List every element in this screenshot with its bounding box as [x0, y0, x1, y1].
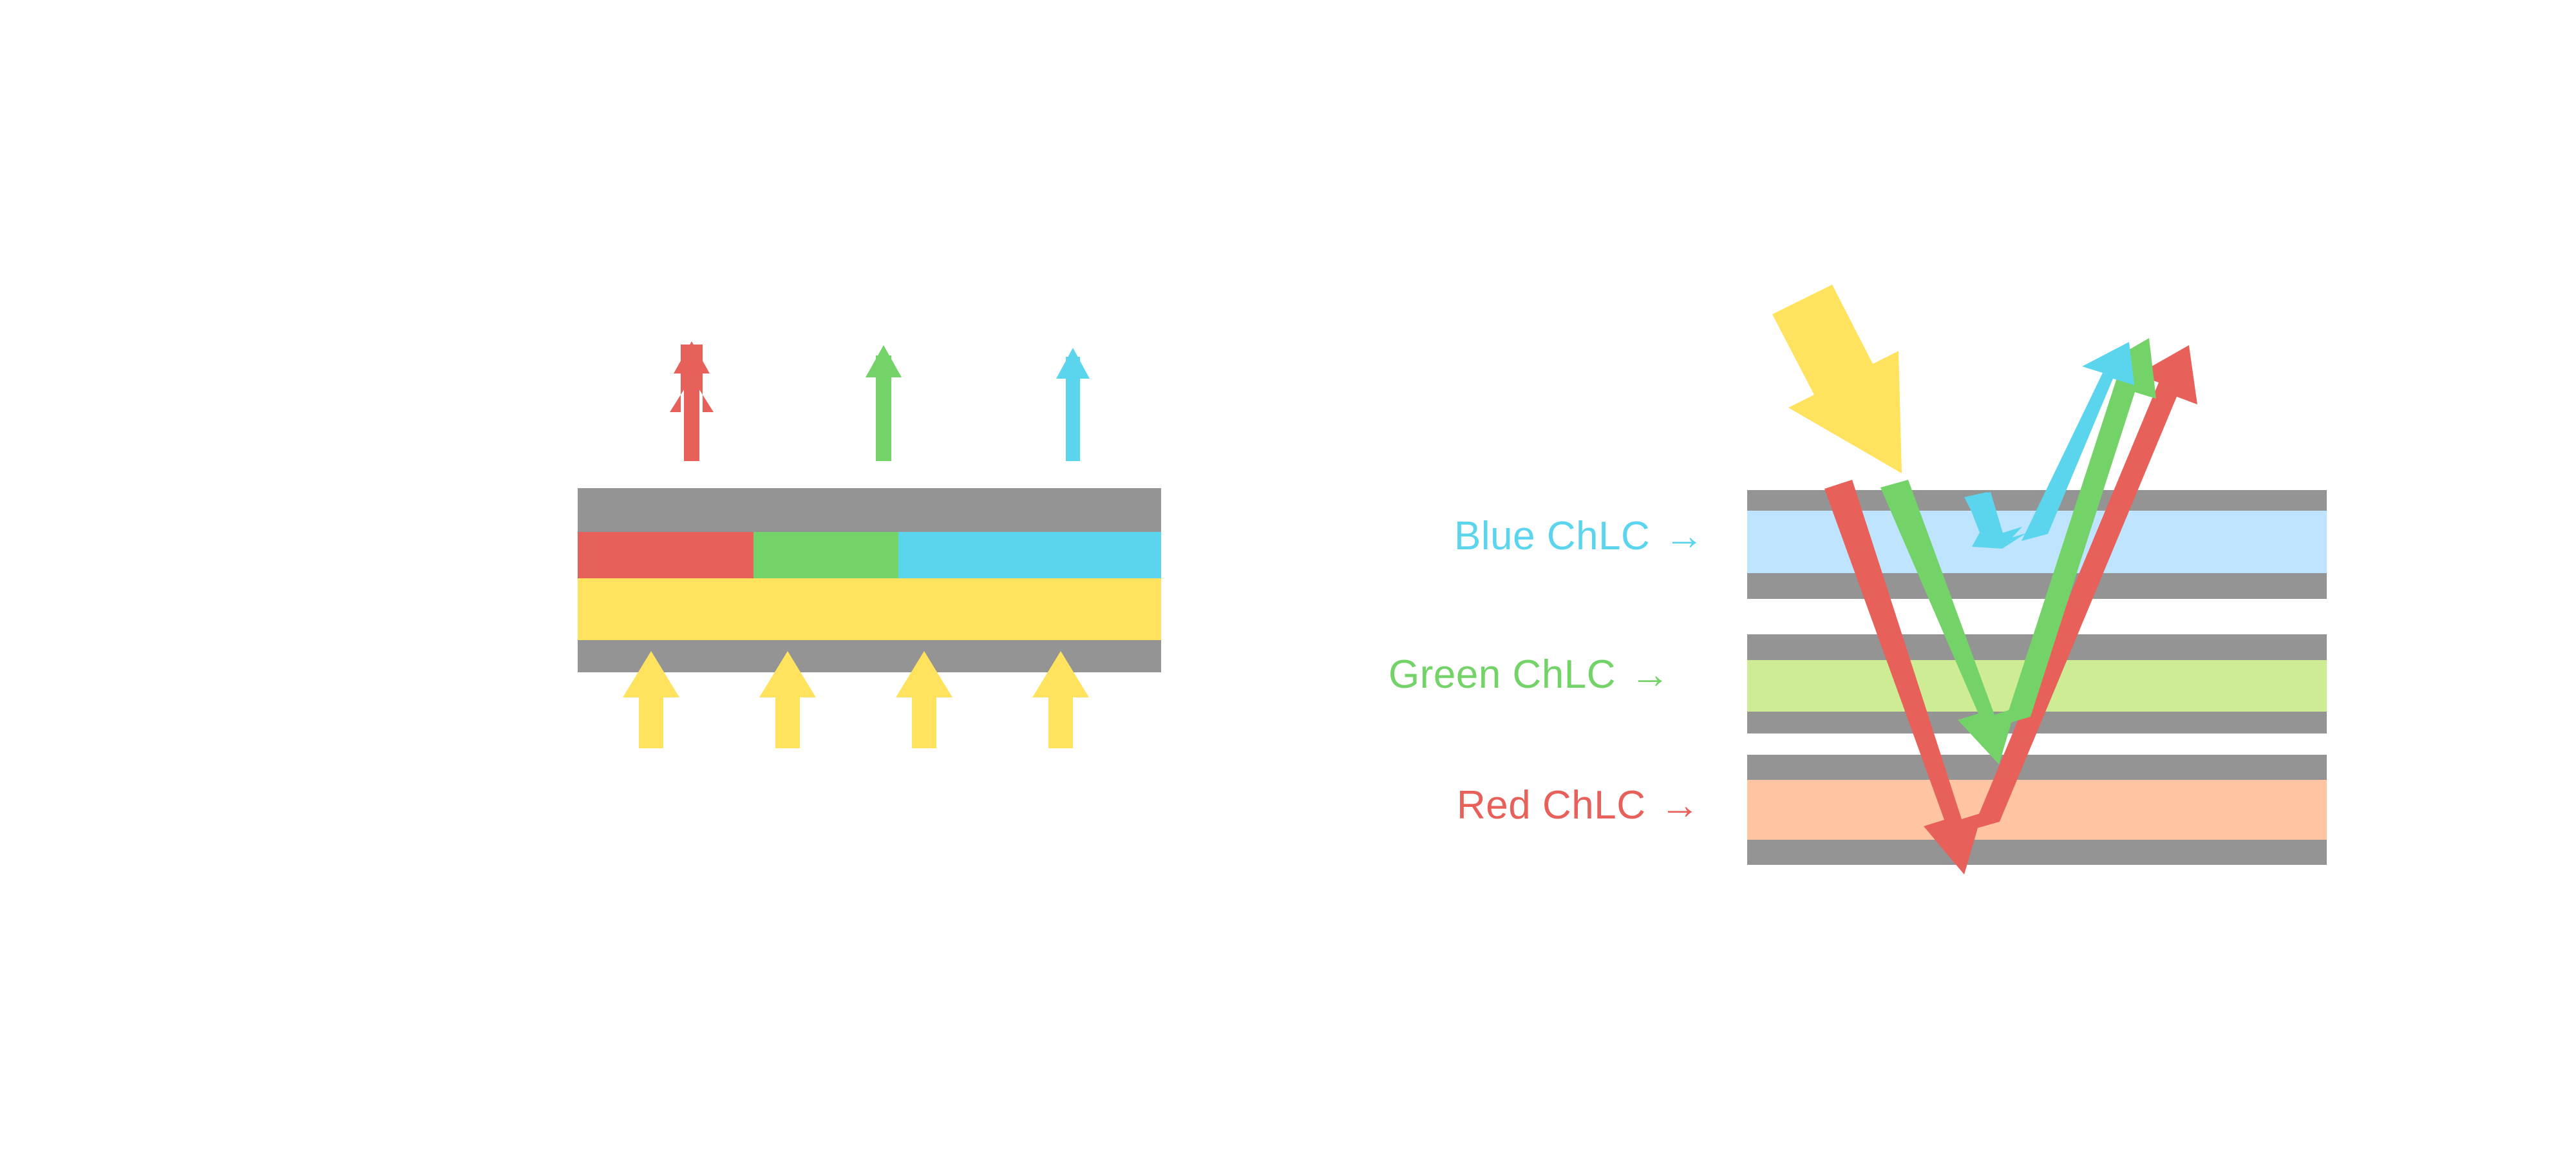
- diagram-canvas: Blue ChLC → Green ChLC → Red ChLC →: [0, 0, 2576, 1154]
- top-electrode: [578, 488, 1161, 532]
- green-chlc-label-arrow-icon: →: [1630, 652, 1671, 697]
- green-chlc-label: Green ChLC →: [1388, 652, 1671, 697]
- red-cell-lc-layer: [1747, 780, 2327, 840]
- red-chlc-label-text: Red ChLC: [1457, 782, 1645, 828]
- green-filter-segment: [753, 532, 898, 578]
- red-cell-top-substrate: [1747, 755, 2327, 780]
- blue-cell-bottom-substrate: [1747, 573, 2327, 599]
- red-cell-bottom-substrate: [1747, 840, 2327, 865]
- green-chlc-label-text: Green ChLC: [1388, 652, 1616, 697]
- blue-emitted-arrow-solid: [1056, 348, 1090, 461]
- left-panel: [578, 341, 1161, 748]
- red-chlc-label-arrow-icon: →: [1660, 782, 1700, 828]
- blue-chlc-label-arrow-icon: →: [1664, 513, 1705, 559]
- blue-chlc-label-text: Blue ChLC: [1454, 513, 1650, 559]
- right-panel: [1747, 285, 2327, 875]
- blue-filter-segment: [898, 532, 1161, 578]
- blue-chlc-label: Blue ChLC →: [1454, 513, 1705, 559]
- red-chlc-label: Red ChLC →: [1457, 782, 1700, 828]
- red-filter-segment: [578, 532, 753, 578]
- diagram-svg: [0, 0, 2576, 1154]
- rgb-color-filter-stack: [578, 488, 1161, 672]
- red-chlc-cell: [1747, 755, 2327, 865]
- yellow-backlight-layer: [578, 578, 1161, 640]
- bottom-electrode: [578, 640, 1161, 672]
- emitted-arrows-group: [670, 341, 1090, 461]
- white-light-incident-arrow: [1772, 285, 1902, 473]
- green-emitted-arrow-solid: [866, 345, 902, 461]
